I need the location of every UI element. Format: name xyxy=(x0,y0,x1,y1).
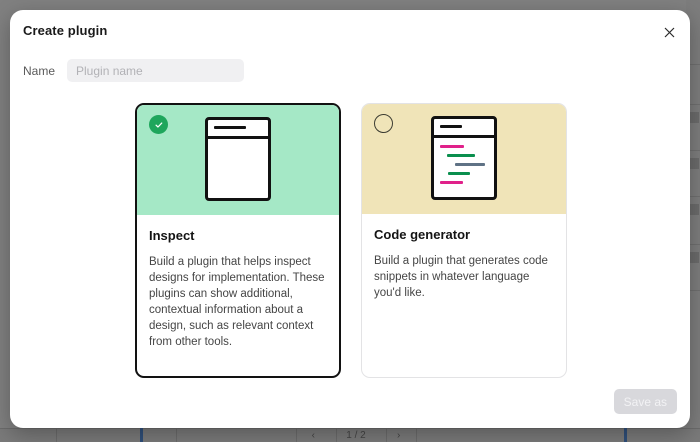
name-field-row: Name xyxy=(23,59,244,82)
background-toolbar-accent xyxy=(140,428,143,442)
save-as-button[interactable]: Save as xyxy=(614,389,677,414)
pager-prev-button[interactable]: ‹ xyxy=(312,430,315,441)
radio-empty-icon[interactable] xyxy=(374,114,393,133)
window-blank-illustration xyxy=(205,117,271,201)
card-artwork xyxy=(137,105,339,215)
background-toolbar-divider xyxy=(416,428,417,442)
illustration-body xyxy=(208,139,268,201)
plugin-type-card-code-generator[interactable]: Code generator Build a plugin that gener… xyxy=(361,103,567,378)
illustration-titlebar xyxy=(208,120,268,139)
plugin-type-card-list: Inspect Build a plugin that helps inspec… xyxy=(135,103,567,378)
card-description: Build a plugin that generates code snipp… xyxy=(374,253,554,301)
background-toolbar-divider xyxy=(176,428,177,442)
card-title: Inspect xyxy=(149,228,327,243)
code-line xyxy=(448,172,470,175)
card-body: Code generator Build a plugin that gener… xyxy=(362,214,566,301)
plugin-type-card-inspect[interactable]: Inspect Build a plugin that helps inspec… xyxy=(135,103,341,378)
background-pager: ‹ 1 / 2 › xyxy=(296,428,416,442)
window-code-illustration xyxy=(431,116,497,200)
illustration-title-line xyxy=(440,125,462,128)
background-toolbar-divider xyxy=(56,428,57,442)
code-line xyxy=(440,181,463,184)
card-title: Code generator xyxy=(374,227,554,242)
name-label: Name xyxy=(23,64,55,78)
card-artwork xyxy=(362,104,566,214)
plugin-name-input[interactable] xyxy=(67,59,244,82)
close-button[interactable] xyxy=(657,20,681,44)
code-line xyxy=(440,145,464,148)
illustration-titlebar xyxy=(434,119,494,138)
page-title: Create plugin xyxy=(23,23,107,38)
close-icon xyxy=(664,27,675,38)
background-toolbar-accent xyxy=(624,428,627,442)
code-line xyxy=(455,163,485,166)
modal-footer: Save as xyxy=(10,380,690,428)
illustration-code-lines xyxy=(434,138,494,200)
card-description: Build a plugin that helps inspect design… xyxy=(149,254,327,350)
pager-position-label: 1 / 2 xyxy=(346,430,365,441)
code-line xyxy=(447,154,475,157)
illustration-title-line xyxy=(214,126,246,129)
check-circle-icon[interactable] xyxy=(149,115,168,134)
pager-next-button[interactable]: › xyxy=(397,430,400,441)
modal-header: Create plugin xyxy=(10,10,690,56)
card-body: Inspect Build a plugin that helps inspec… xyxy=(137,215,339,350)
create-plugin-modal: Create plugin Name xyxy=(10,10,690,428)
